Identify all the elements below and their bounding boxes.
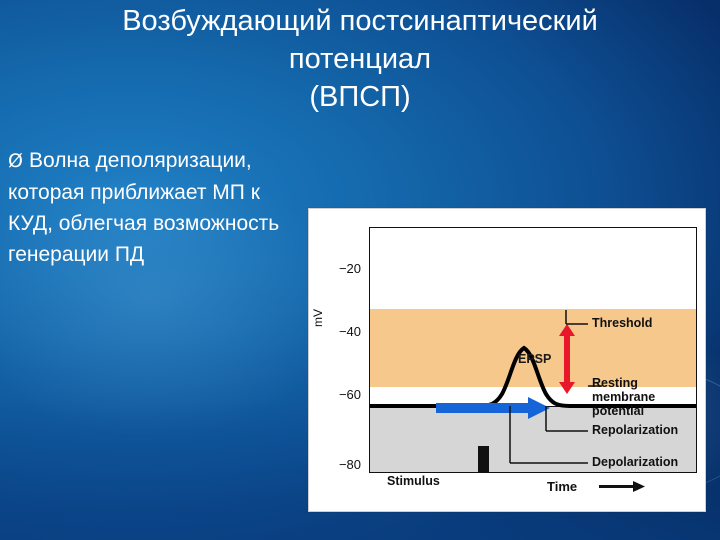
- membrane-potential-plot: Threshold EPSP Resting membrane potentia…: [369, 227, 697, 473]
- label-resting-line2: potential: [592, 404, 644, 418]
- y-tick-60: −60: [315, 387, 361, 402]
- label-depolarization: Depolarization: [592, 455, 678, 469]
- bullet-text: Волна деполяризации, которая приближает …: [8, 149, 279, 266]
- title-line-2: потенциал: [0, 40, 720, 78]
- label-epsp: EPSP: [518, 352, 551, 366]
- page-title: Возбуждающий постсинаптический потенциал…: [0, 2, 720, 116]
- label-resting-line1: Resting membrane: [592, 376, 655, 404]
- y-tick-20: −20: [315, 261, 361, 276]
- y-tick-40: −40: [315, 324, 361, 339]
- figure-panel: mV −20 −40 −60 −80: [308, 208, 706, 512]
- label-threshold: Threshold: [592, 316, 652, 330]
- title-line-1: Возбуждающий постсинаптический: [0, 2, 720, 40]
- label-repolarization: Repolarization: [592, 423, 678, 437]
- label-time: Time: [547, 479, 577, 494]
- time-axis-arrow-icon: [599, 481, 645, 493]
- label-stimulus: Stimulus: [387, 474, 440, 488]
- label-resting-potential: Resting membrane potential: [592, 376, 696, 418]
- title-line-3: (ВПСП): [0, 78, 720, 116]
- bullet-item: ØВолна деполяризации, которая приближает…: [8, 145, 298, 270]
- bullet-marker-icon: Ø: [8, 150, 23, 172]
- y-tick-80: −80: [315, 457, 361, 472]
